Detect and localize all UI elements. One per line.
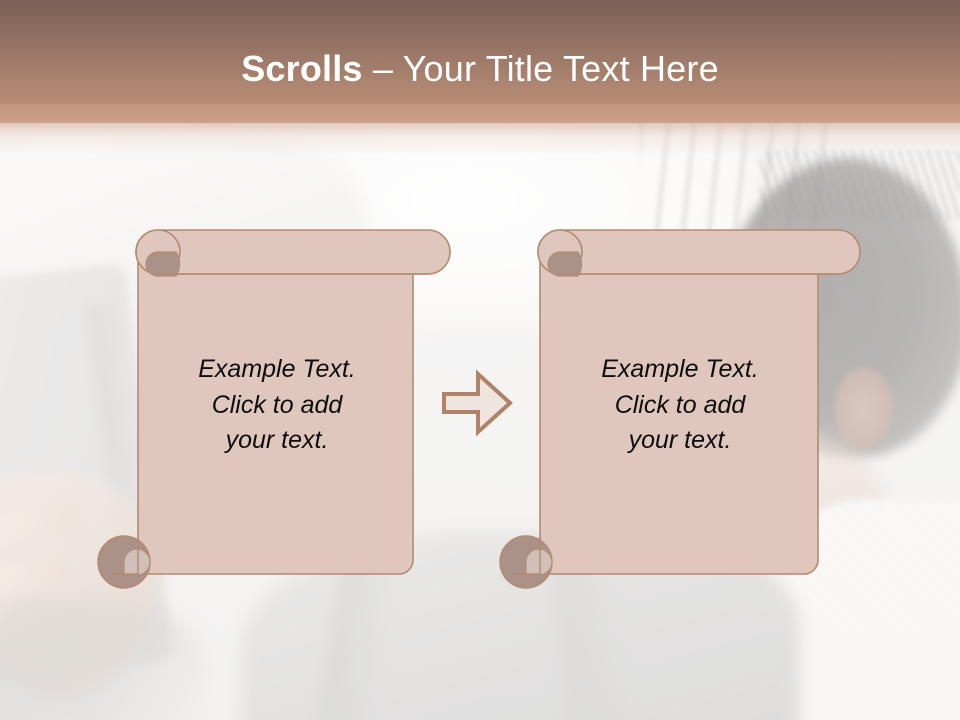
scroll-bottom-curl-inner — [526, 549, 552, 575]
scroll-left[interactable]: Example Text. Click to add your text. — [98, 212, 488, 602]
scroll-left-text[interactable]: Example Text. Click to add your text. — [138, 352, 416, 459]
scroll-bottom-curl-inner — [124, 549, 150, 575]
scroll-top-bar — [538, 230, 860, 274]
scroll-top-bar — [136, 230, 450, 274]
scroll-top-curl-shadow — [146, 252, 180, 276]
scroll-top-curl-shadow — [548, 252, 582, 276]
slide-canvas: Scrolls – Your Title Text Here Example T… — [0, 0, 960, 720]
scroll-right[interactable]: Example Text. Click to add your text. — [500, 212, 890, 602]
page-title-rest: – Your Title Text Here — [363, 48, 719, 89]
scroll-right-text[interactable]: Example Text. Click to add your text. — [540, 352, 820, 459]
page-title-strong: Scrolls — [241, 48, 362, 89]
title-banner-fade — [0, 104, 960, 156]
page-title: Scrolls – Your Title Text Here — [0, 48, 960, 90]
